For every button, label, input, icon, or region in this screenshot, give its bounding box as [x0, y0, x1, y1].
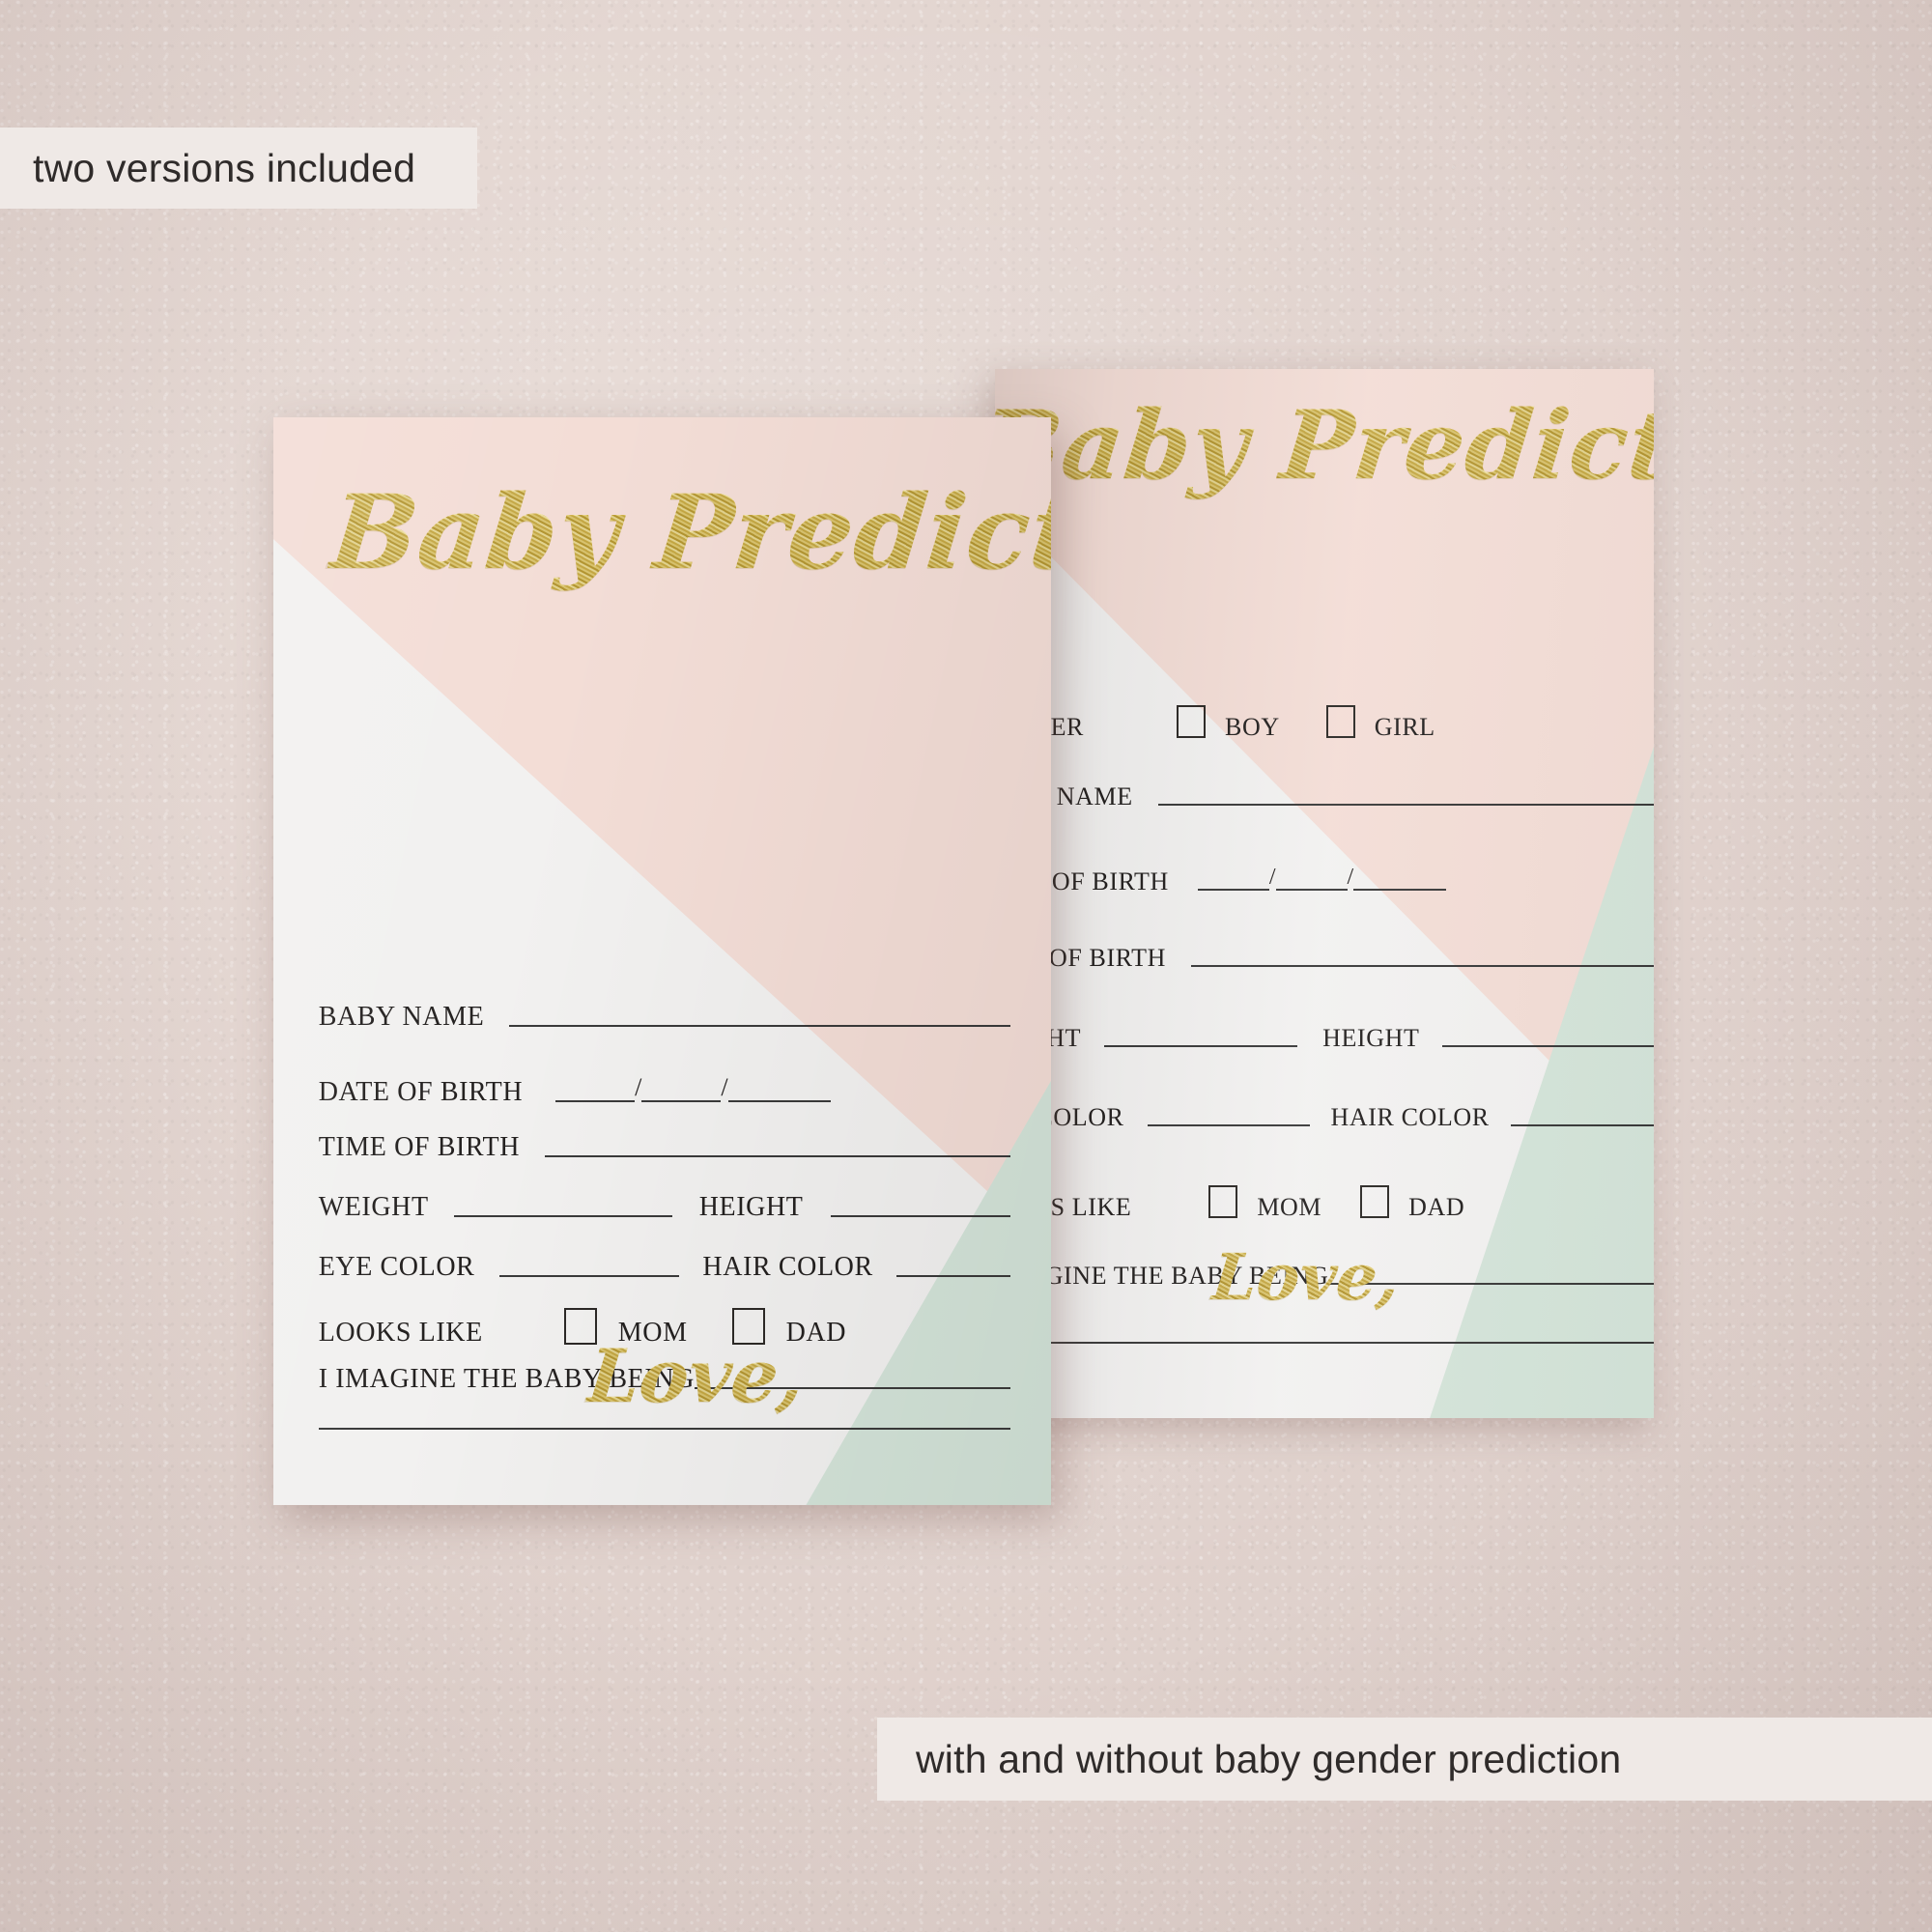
banner-bottom-text: with and without baby gender prediction — [916, 1737, 1621, 1782]
card-back-checkbox-mom[interactable] — [1208, 1185, 1237, 1218]
card-without-gender-prediction[interactable]: Baby Predictions BABY NAME DATE OF BIRTH… — [273, 417, 1051, 1505]
card-back-row-baby-name: BABY NAME — [995, 784, 1654, 810]
card-back-label-height: HEIGHT — [1322, 1026, 1419, 1051]
card-back-label-mom: MOM — [1257, 1195, 1321, 1220]
card-back-input-dob-month[interactable] — [1276, 888, 1348, 891]
card-front-input-eye-color[interactable] — [499, 1274, 679, 1277]
card-back-checkbox-boy[interactable] — [1177, 705, 1206, 738]
card-back-label-girl: GIRL — [1375, 715, 1435, 740]
card-front-row-eye-hair-color: EYE COLOR HAIR COLOR — [319, 1254, 1010, 1281]
card-front-row-baby-name: BABY NAME — [319, 1004, 1010, 1031]
card-back-dob-sep-1: / — [1269, 866, 1276, 889]
card-back-label-dad: DAD — [1408, 1195, 1464, 1220]
card-back-signoff: Love, — [1208, 1239, 1404, 1315]
card-back-row-imagine-2 — [995, 1341, 1654, 1348]
card-back-input-imagine-2[interactable] — [995, 1341, 1654, 1344]
card-front-input-weight[interactable] — [454, 1214, 672, 1217]
card-back-row-date-of-birth: DATE OF BIRTH / / — [995, 866, 1654, 895]
card-front-input-imagine-2[interactable] — [319, 1427, 1010, 1430]
card-back-row-looks-like: LOOKS LIKE MOM DAD — [995, 1185, 1654, 1220]
card-front-dob-sep-2: / — [721, 1075, 727, 1100]
card-front-title: Baby Predictions — [326, 471, 1051, 592]
card-front-input-time-of-birth[interactable] — [545, 1154, 1010, 1157]
card-front-label-looks-like: LOOKS LIKE — [319, 1320, 483, 1347]
card-front-signoff: Love, — [583, 1333, 808, 1419]
card-front-row-imagine-2 — [319, 1427, 1010, 1434]
card-front-input-dob-year[interactable] — [728, 1099, 831, 1102]
card-back-checkbox-girl[interactable] — [1326, 705, 1355, 738]
banner-two-versions: two versions included — [0, 128, 477, 209]
card-back-input-height[interactable] — [1442, 1044, 1654, 1047]
card-front-label-hair-color: HAIR COLOR — [702, 1254, 872, 1281]
card-front-label-weight: WEIGHT — [319, 1194, 429, 1221]
card-back-input-eye-color[interactable] — [1148, 1123, 1310, 1126]
card-back-input-dob-year[interactable] — [1353, 888, 1446, 891]
card-back-input-weight[interactable] — [1104, 1044, 1297, 1047]
card-back-row-time-of-birth: TIME OF BIRTH — [995, 946, 1654, 971]
card-back-dob-sep-2: / — [1348, 866, 1354, 889]
card-front-label-time-of-birth: TIME OF BIRTH — [319, 1134, 520, 1161]
card-back-title: Baby Predictions — [995, 390, 1654, 501]
card-back-label-hair-color: HAIR COLOR — [1331, 1105, 1490, 1130]
card-front-row-weight-height: WEIGHT HEIGHT — [319, 1194, 1010, 1221]
card-front-label-date-of-birth: DATE OF BIRTH — [319, 1079, 523, 1106]
card-with-gender-prediction[interactable]: Baby Predictions GENDER BOY GIRL BABY NA… — [995, 369, 1654, 1418]
card-front-dob-sep-1: / — [635, 1075, 641, 1100]
card-front-label-eye-color: EYE COLOR — [319, 1254, 475, 1281]
card-front-label-baby-name: BABY NAME — [319, 1004, 485, 1031]
card-back-row-eye-hair-color: EYE COLOR HAIR COLOR — [995, 1105, 1654, 1130]
card-front-input-hair-color[interactable] — [896, 1274, 1010, 1277]
card-front-label-height: HEIGHT — [699, 1194, 804, 1221]
card-back-input-time-of-birth[interactable] — [1191, 964, 1654, 967]
banner-top-text: two versions included — [33, 146, 415, 191]
card-front-input-dob-day[interactable] — [555, 1099, 635, 1102]
card-front-input-height[interactable] — [831, 1214, 1011, 1217]
card-back-row-weight-height: WEIGHT HEIGHT — [995, 1026, 1654, 1051]
card-back-input-baby-name[interactable] — [1158, 803, 1654, 806]
card-front-input-dob-month[interactable] — [641, 1099, 721, 1102]
card-back-input-hair-color[interactable] — [1511, 1123, 1654, 1126]
card-back-label-boy: BOY — [1225, 715, 1280, 740]
card-back-row-gender: GENDER BOY GIRL — [995, 705, 1654, 740]
card-back-input-dob-day[interactable] — [1198, 888, 1269, 891]
card-back-checkbox-dad[interactable] — [1360, 1185, 1389, 1218]
card-front-row-time-of-birth: TIME OF BIRTH — [319, 1134, 1010, 1161]
card-front-input-baby-name[interactable] — [509, 1024, 1010, 1027]
card-front-row-date-of-birth: DATE OF BIRTH / / — [319, 1075, 1010, 1106]
banner-gender-prediction: with and without baby gender prediction — [877, 1718, 1932, 1801]
